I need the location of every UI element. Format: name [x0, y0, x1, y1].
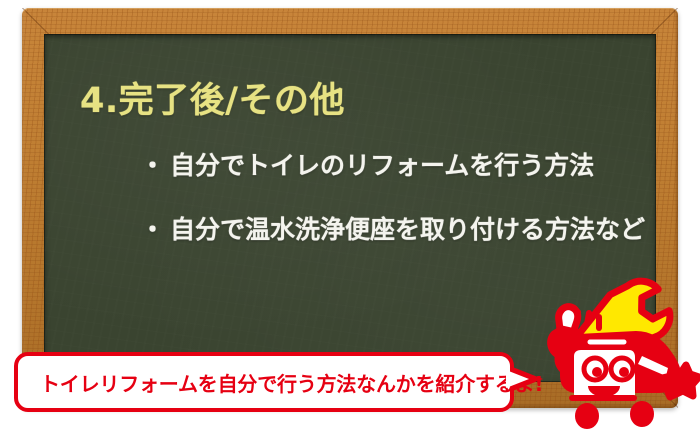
list-item-label: 自分でトイレのリフォームを行う方法: [170, 151, 594, 180]
list-item: ・自分でトイレのリフォームを行う方法: [140, 146, 645, 182]
wheels: [578, 404, 651, 426]
bullet-marker-icon: ・: [140, 151, 165, 180]
speech-bubble-text: トイレリフォームを自分で行う方法なんかを紹介するよ!: [18, 368, 543, 397]
van-body: [564, 335, 677, 401]
speech-bubble-tail-fill: [506, 370, 529, 388]
page-title: 4.完了後/その他: [80, 72, 345, 123]
mascot-red-van-character: [530, 268, 700, 432]
slide-canvas: 4.完了後/その他 ・自分でトイレのリフォームを行う方法 ・自分で温水洗浄便座を…: [0, 0, 700, 432]
bullet-marker-icon: ・: [140, 215, 165, 244]
list-item-label: 自分で温水洗浄便座を取り付ける方法など: [170, 215, 645, 244]
bullet-list: ・自分でトイレのリフォームを行う方法 ・自分で温水洗浄便座を取り付ける方法など: [140, 146, 645, 274]
speech-bubble: トイレリフォームを自分で行う方法なんかを紹介するよ!: [14, 352, 514, 412]
list-item: ・自分で温水洗浄便座を取り付ける方法など: [140, 210, 645, 246]
